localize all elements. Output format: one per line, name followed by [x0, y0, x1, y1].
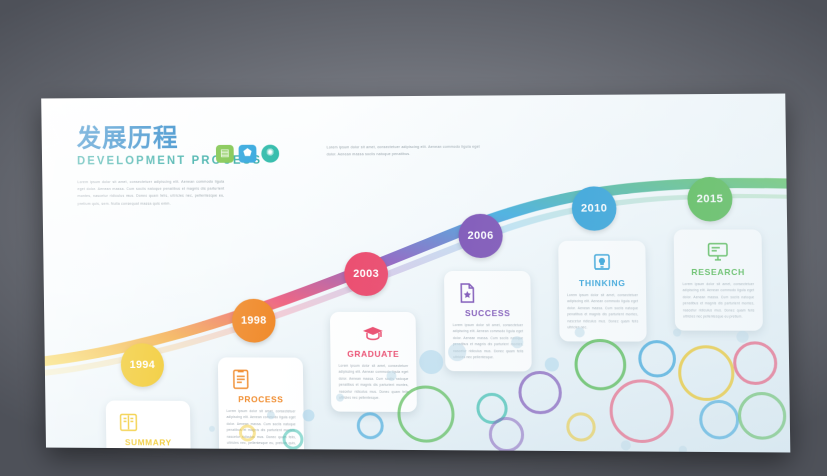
graduation-cap-icon [360, 321, 386, 347]
card-graduate[interactable]: GRADUATE Lorem ipsum dolor sit amet, con… [330, 312, 417, 412]
card-research[interactable]: RESEARCH Lorem ipsum dolor sit amet, con… [674, 229, 763, 330]
card-body: Lorem ipsum dolor sit amet, consectetuer… [567, 292, 638, 331]
milestone-year-1998: 1998 [241, 315, 267, 327]
card-body: Lorem ipsum dolor sit amet, consectetuer… [683, 281, 755, 320]
card-body: Lorem ipsum dolor sit amet, consectetuer… [339, 363, 409, 402]
screenshot-stage: 发展历程 DEVELOPMENT PROCESS ▤ ⬟ ✺ Lorem ips… [0, 0, 827, 476]
milestone-node-2010[interactable]: 2010 [572, 186, 617, 230]
card-process[interactable]: PROCESS Lorem ipsum dolor sit amet, cons… [218, 357, 304, 452]
card-summary[interactable]: SUMMARY Lorem ipsum dolor sit amet, cons… [106, 401, 192, 453]
milestone-node-2003[interactable]: 2003 [344, 252, 388, 296]
monitor-icon [704, 239, 731, 265]
milestone-year-2015: 2015 [697, 193, 724, 205]
lightbulb-book-icon [589, 250, 616, 276]
intro-paragraph-left: Lorem ipsum dolor sit amet, consectetuer… [77, 179, 224, 208]
card-body: Lorem ipsum dolor sit amet, consectetuer… [453, 322, 524, 361]
clipboard-icon [228, 366, 254, 392]
card-title: PROCESS [226, 394, 295, 404]
card-title: GRADUATE [338, 349, 408, 359]
milestone-year-2003: 2003 [353, 268, 379, 280]
shield-badge-icon: ⬟ [239, 145, 257, 163]
milestone-year-2010: 2010 [581, 202, 608, 214]
card-title: SUMMARY [114, 437, 183, 447]
milestone-year-2006: 2006 [467, 230, 493, 242]
milestone-node-1994[interactable]: 1994 [121, 343, 165, 387]
chart-badge-icon: ▤ [216, 145, 234, 163]
card-title: RESEARCH [682, 267, 754, 277]
milestone-node-1998[interactable]: 1998 [232, 299, 276, 343]
card-title: THINKING [567, 278, 638, 288]
card-success[interactable]: SUCCESS Lorem ipsum dolor sit amet, cons… [444, 271, 532, 371]
milestone-node-2006[interactable]: 2006 [458, 214, 503, 258]
card-title: SUCCESS [453, 308, 523, 318]
milestone-node-2015[interactable]: 2015 [687, 177, 733, 222]
header-badges: ▤ ⬟ ✺ [216, 145, 279, 163]
globe-badge-icon: ✺ [261, 145, 279, 163]
card-thinking[interactable]: THINKING Lorem ipsum dolor sit amet, con… [558, 241, 647, 342]
milestone-year-1994: 1994 [130, 359, 156, 371]
development-process-poster: 发展历程 DEVELOPMENT PROCESS ▤ ⬟ ✺ Lorem ips… [41, 94, 790, 453]
document-star-icon [454, 280, 480, 306]
book-icon [116, 409, 142, 435]
intro-paragraph-right: Lorem ipsum dolor sit amet, consectetuer… [327, 144, 487, 159]
card-body: Lorem ipsum dolor sit amet, consectetuer… [226, 408, 296, 452]
